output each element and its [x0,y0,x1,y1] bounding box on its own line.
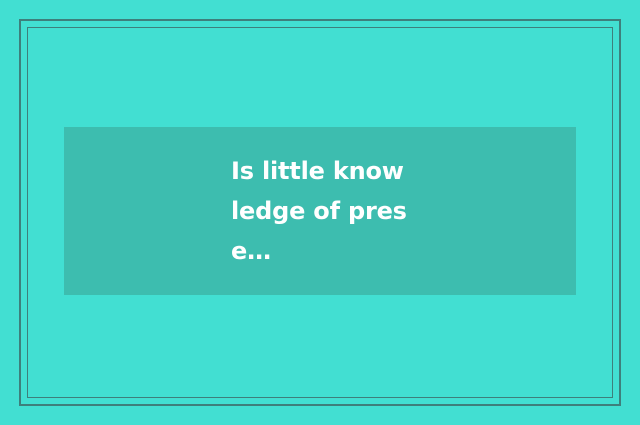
screenshot-canvas: Is little knowledge of prese… [0,0,640,425]
panel-text: Is little knowledge of prese… [231,151,409,271]
content-panel: Is little knowledge of prese… [64,127,576,295]
